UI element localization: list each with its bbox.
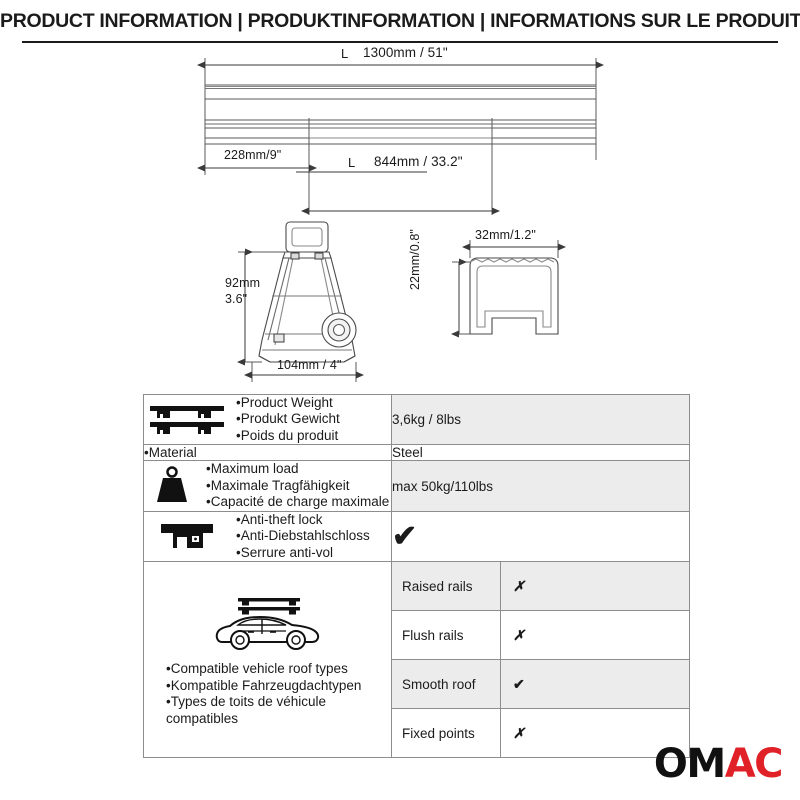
row-label-cell: •Anti-theft lock •Anti-Diebstahlschloss …	[144, 511, 392, 561]
logo-text-om: OM	[654, 741, 725, 787]
label-line: •Serrure anti-vol	[236, 545, 391, 561]
dimension-foot-height: 92mm	[225, 276, 260, 290]
compat-mark-raised-rails: ✗	[501, 562, 690, 611]
cross-icon: ✗	[513, 725, 525, 741]
crossbars-icon	[144, 400, 230, 440]
table-row: •Product Weight •Produkt Gewicht •Poids …	[144, 395, 690, 445]
label-line: •Maximum load	[206, 461, 391, 477]
compat-name-raised-rails: Raised rails	[392, 562, 501, 611]
car-with-rack-icon	[208, 592, 328, 657]
compat-row: Flush rails ✗	[392, 611, 689, 660]
dimension-total-length: 1300mm / 51"	[363, 45, 448, 60]
checkmark-icon: ✔	[513, 676, 525, 692]
row-value-max-load: max 50kg/110lbs	[392, 461, 690, 511]
lock-icon	[144, 520, 230, 554]
cross-icon: ✗	[513, 627, 525, 643]
compat-mark-flush-rails: ✗	[501, 611, 690, 660]
row-value-anti-theft: ✔	[392, 511, 690, 561]
dimension-bar-height: 22mm/0.8"	[408, 229, 422, 290]
dimension-bar-width: 32mm/1.2"	[475, 228, 536, 242]
label-line: •Maximale Tragfähigkeit	[206, 478, 391, 494]
omac-logo: OMAC	[654, 744, 782, 784]
label-line: •Anti-Diebstahlschloss	[236, 528, 391, 544]
roof-label-texts: •Compatible vehicle roof types •Kompatib…	[144, 661, 361, 727]
compat-row: Fixed points ✗	[392, 709, 689, 758]
dimension-foot-offset: 228mm/9"	[224, 148, 281, 162]
dimension-foot-width: 104mm / 4"	[277, 358, 342, 372]
compat-row: Smooth roof ✔	[392, 660, 689, 709]
label-line: compatibles	[166, 711, 361, 727]
table-row: •Maximum load •Maximale Tragfähigkeit •C…	[144, 461, 690, 511]
compat-name-smooth-roof: Smooth roof	[392, 660, 501, 709]
row-label-cell: •Maximum load •Maximale Tragfähigkeit •C…	[144, 461, 392, 511]
label-line: •Anti-theft lock	[236, 512, 391, 528]
table-row: •Material Steel	[144, 445, 690, 461]
cross-icon: ✗	[513, 578, 525, 594]
label-line: •Compatible vehicle roof types	[166, 661, 361, 677]
row-label-texts: •Maximum load •Maximale Tragfähigkeit •C…	[206, 461, 391, 510]
row-label-texts: •Anti-theft lock •Anti-Diebstahlschloss …	[236, 512, 391, 561]
label-line: •Kompatible Fahrzeugdachtypen	[166, 678, 361, 694]
label-line: •Product Weight	[236, 395, 391, 411]
label-line: •Poids du produit	[236, 428, 391, 444]
title-divider	[22, 41, 778, 43]
weight-icon	[144, 465, 200, 507]
dimension-foot-height-inch: 3.6"	[225, 292, 247, 306]
checkmark-icon: ✔	[392, 520, 417, 553]
length-symbol-inner: L	[348, 155, 355, 170]
compat-mark-smooth-roof: ✔	[501, 660, 690, 709]
page-title: PRODUCT INFORMATION | PRODUKTINFORMATION…	[0, 10, 800, 33]
row-label-roof-types: •Compatible vehicle roof types •Kompatib…	[144, 562, 392, 758]
logo-text-ac: AC	[725, 741, 782, 787]
label-line: •Capacité de charge maximale	[206, 494, 391, 510]
specification-table: •Product Weight •Produkt Gewicht •Poids …	[143, 394, 690, 758]
row-label-cell: •Product Weight •Produkt Gewicht •Poids …	[144, 395, 392, 445]
table-row: •Compatible vehicle roof types •Kompatib…	[144, 562, 690, 758]
row-label-material: •Material	[144, 445, 392, 461]
page-header: PRODUCT INFORMATION | PRODUKTINFORMATION…	[0, 10, 800, 33]
product-information-page: PRODUCT INFORMATION | PRODUKTINFORMATION…	[0, 0, 800, 800]
dimension-inner-length: 844mm / 33.2"	[374, 154, 463, 169]
row-value-material: Steel	[392, 445, 690, 461]
length-symbol-total: L	[341, 46, 348, 61]
table-row: •Anti-theft lock •Anti-Diebstahlschloss …	[144, 511, 690, 561]
row-label-texts: •Product Weight •Produkt Gewicht •Poids …	[236, 395, 391, 444]
compat-name-fixed-points: Fixed points	[392, 709, 501, 758]
compat-row: Raised rails ✗	[392, 562, 689, 611]
roof-options-cell: Raised rails ✗ Flush rails ✗	[392, 562, 690, 758]
compat-name-flush-rails: Flush rails	[392, 611, 501, 660]
label-line: •Produkt Gewicht	[236, 411, 391, 427]
roof-compatibility-table: Raised rails ✗ Flush rails ✗	[392, 562, 689, 757]
row-value-product-weight: 3,6kg / 8lbs	[392, 395, 690, 445]
label-line: •Types de toits de véhicule	[166, 694, 361, 710]
